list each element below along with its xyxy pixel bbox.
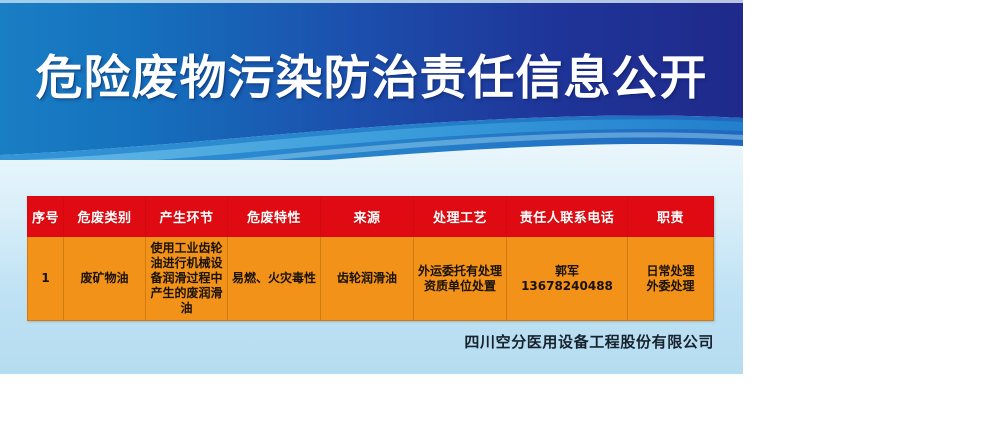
header-banner: 危险废物污染防治责任信息公开 xyxy=(0,0,743,160)
column-header-category: 危废类别 xyxy=(64,197,146,237)
column-header-index: 序号 xyxy=(28,197,64,237)
cell-category: 废矿物油 xyxy=(64,237,146,321)
company-name: 四川空分医用设备工程股份有限公司 xyxy=(0,331,714,352)
contact-person-phone: 13678240488 xyxy=(510,279,624,294)
column-header-source: 来源 xyxy=(321,197,414,237)
contact-person-name: 郭军 xyxy=(510,264,624,279)
cell-duty: 日常处理 外委处理 xyxy=(628,237,714,321)
cell-process: 外运委托有处理资质单位处置 xyxy=(414,237,507,321)
cell-index: 1 xyxy=(28,237,64,321)
column-header-duty: 职责 xyxy=(628,197,714,237)
column-header-characteristic: 危废特性 xyxy=(228,197,321,237)
page-title: 危险废物污染防治责任信息公开 xyxy=(0,51,743,107)
hazardous-waste-table-wrapper: 序号 危废类别 产生环节 危废特性 来源 处理工艺 责任人联系电话 职责 1 废… xyxy=(27,196,713,321)
poster-canvas: 危险废物污染防治责任信息公开 序号 危废类别 产生环节 危废特性 来源 处理工艺… xyxy=(0,0,743,374)
hazardous-waste-table: 序号 危废类别 产生环节 危废特性 来源 处理工艺 责任人联系电话 职责 1 废… xyxy=(27,196,714,321)
column-header-process: 处理工艺 xyxy=(414,197,507,237)
cell-stage: 使用工业齿轮油进行机械设备润滑过程中产生的废润滑油 xyxy=(146,237,228,321)
cell-characteristic: 易燃、火灾毒性 xyxy=(228,237,321,321)
column-header-stage: 产生环节 xyxy=(146,197,228,237)
table-row: 1 废矿物油 使用工业齿轮油进行机械设备润滑过程中产生的废润滑油 易燃、火灾毒性… xyxy=(28,237,714,321)
table-header-row: 序号 危废类别 产生环节 危废特性 来源 处理工艺 责任人联系电话 职责 xyxy=(28,197,714,237)
cell-source: 齿轮润滑油 xyxy=(321,237,414,321)
column-header-contact: 责任人联系电话 xyxy=(507,197,628,237)
cell-contact: 郭军 13678240488 xyxy=(507,237,628,321)
